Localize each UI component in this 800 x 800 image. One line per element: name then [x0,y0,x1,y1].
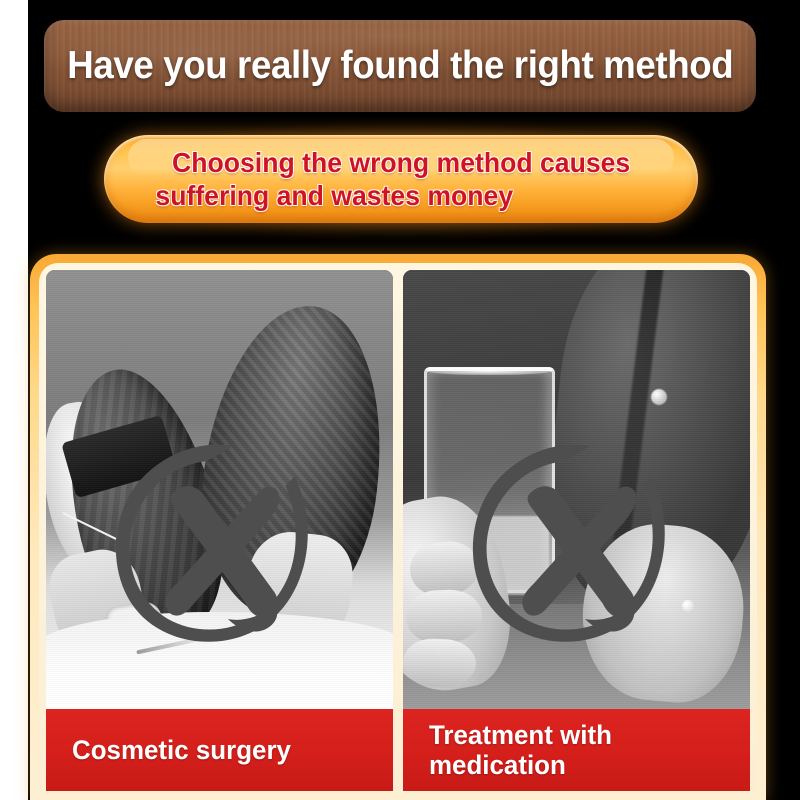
caption-text-treatment-line-2: medication [429,750,737,780]
comparison-card: Cosmetic surgery [30,254,766,800]
medication-scene [403,270,750,709]
subtitle-pill: Choosing the wrong method causes sufferi… [104,135,698,223]
panel-cosmetic-surgery: Cosmetic surgery [46,270,393,791]
subtitle-line-1: Choosing the wrong method causes [172,147,630,178]
photo-grain [403,270,750,709]
page-title: Have you really found the right method [67,44,733,88]
caption-cosmetic-surgery: Cosmetic surgery [46,709,393,791]
panel-treatment-with-medication: Treatment with medication [403,270,750,791]
photo-treatment-with-medication [403,270,750,709]
caption-text-cosmetic-surgery: Cosmetic surgery [72,735,380,765]
photo-grain [46,270,393,709]
caption-text-treatment-line-1: Treatment with [429,720,737,750]
promo-poster: Have you really found the right method C… [0,0,800,800]
comparison-card-inner: Cosmetic surgery [39,263,757,791]
subtitle-banner: Choosing the wrong method causes sufferi… [104,135,698,223]
operating-room-scene [46,270,393,709]
caption-treatment-with-medication: Treatment with medication [403,709,750,791]
photo-cosmetic-surgery [46,270,393,709]
subtitle-line-2: suffering and wastes money [155,180,513,211]
header-wood-banner: Have you really found the right method [44,20,756,112]
